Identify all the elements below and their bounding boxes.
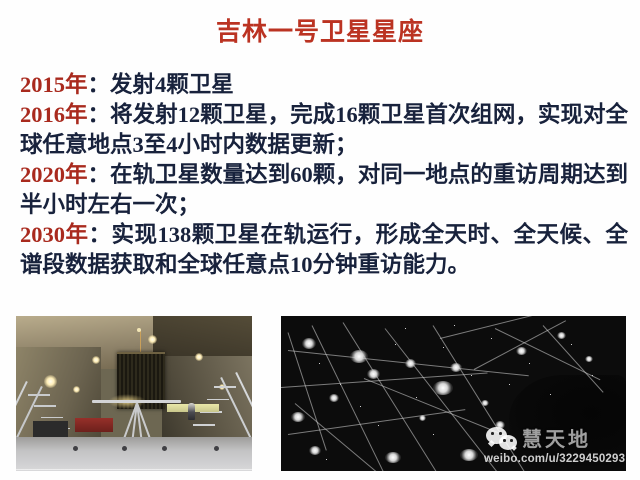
technician-figure: [188, 403, 195, 420]
road-line: [343, 322, 468, 471]
milestone-list: 2015年：发射4颗卫星 2016年：将发射12颗卫星，完成16颗卫星首次组网，…: [20, 70, 628, 280]
milestone-year-2015: 2015年: [20, 72, 88, 97]
city-light-cluster: [481, 400, 489, 406]
milestone-separator: ：: [88, 102, 111, 127]
milestone-separator: ：: [88, 222, 111, 247]
city-light-cluster: [291, 412, 305, 422]
milestone-text-2015: 发射4颗卫星: [110, 72, 234, 97]
city-light-cluster: [385, 452, 401, 463]
city-light-cluster: [557, 332, 566, 339]
milestone-year-2016: 2016年: [20, 102, 88, 127]
milestone-text-2016: 将发射12颗卫星，完成16颗卫星首次组网，实现对全球任意地点3至4小时内数据更新…: [20, 102, 628, 157]
city-light-cluster: [460, 449, 478, 461]
road-line: [474, 320, 566, 369]
city-light-cluster: [329, 394, 339, 402]
milestone-separator: ：: [88, 162, 111, 187]
milestone-text-2030: 实现138颗卫星在轨运行，形成全天时、全天候、全谱段数据获取和全球任意点10分钟…: [20, 222, 628, 277]
city-light-cluster: [367, 369, 380, 379]
city-light-cluster: [585, 356, 593, 362]
city-light-cluster: [309, 446, 321, 455]
night-lights-satellite-image: 慧天地 weibo.com/u/3229450293: [281, 316, 626, 471]
milestone-item-2030: 2030年：实现138颗卫星在轨运行，形成全天时、全天候、全谱段数据获取和全球任…: [20, 220, 628, 280]
city-light-cluster: [419, 415, 426, 421]
ceiling-light: [148, 335, 157, 344]
red-equipment-crate: [75, 418, 113, 432]
night-scene: [281, 316, 626, 471]
water-body: [509, 375, 626, 471]
milestone-item-2020: 2020年：在轨卫星数量达到60颗，对同一地点的重访周期达到半小时左右一次；: [20, 160, 628, 220]
milestone-separator: ：: [88, 72, 111, 97]
city-light-cluster: [450, 363, 462, 372]
ceiling-light: [92, 356, 100, 364]
milestone-text-2020: 在轨卫星数量达到60颗，对同一地点的重访周期达到半小时左右一次；: [20, 162, 628, 217]
satellite-mast-tip: [137, 328, 141, 332]
satellite-assembly-photo: [16, 316, 252, 471]
milestone-year-2020: 2020年: [20, 162, 88, 187]
milestone-year-2030: 2030年: [20, 222, 88, 247]
city-light-cluster: [495, 421, 505, 429]
road-line: [294, 403, 384, 471]
milestone-item-2016: 2016年：将发射12颗卫星，完成16颗卫星首次组网，实现对全球任意地点3至4小…: [20, 100, 628, 160]
caster-wheel: [73, 446, 78, 451]
city-light-cluster: [350, 350, 368, 363]
milestone-item-2015: 2015年：发射4颗卫星: [20, 70, 628, 100]
presentation-slide: 吉林一号卫星星座 2015年：发射4颗卫星 2016年：将发射12颗卫星，完成1…: [0, 0, 640, 480]
city-light-cluster: [433, 381, 453, 395]
city-light-cluster: [516, 347, 527, 355]
page-title: 吉林一号卫星星座: [0, 18, 640, 48]
satellite-mast: [140, 330, 142, 353]
city-light-cluster: [302, 338, 316, 349]
cleanroom-floor: [16, 437, 252, 471]
